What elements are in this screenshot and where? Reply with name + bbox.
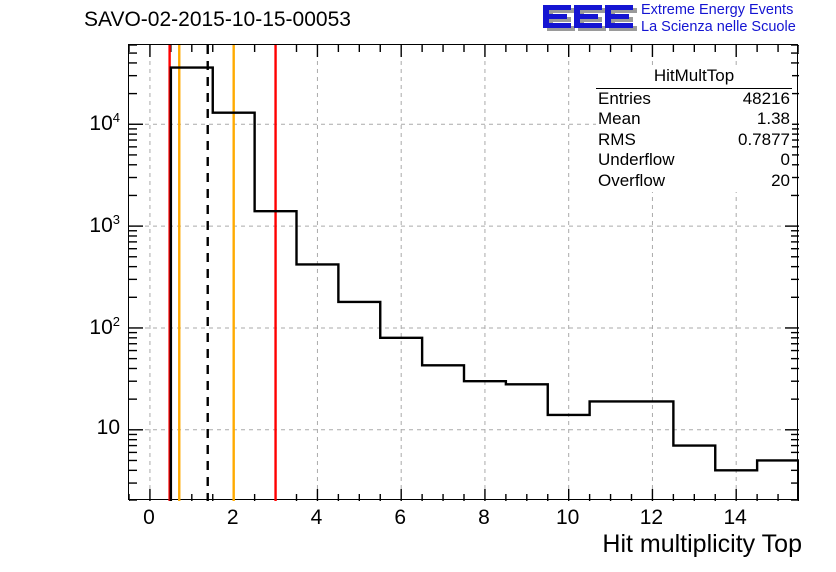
x-tick-label: 2: [203, 506, 263, 530]
stats-row: Entries48216: [596, 89, 792, 110]
stats-key: Underflow: [598, 150, 675, 171]
stats-row: Underflow0: [596, 150, 792, 171]
x-tick-label: 4: [286, 506, 346, 530]
stats-value: 0: [781, 150, 790, 171]
y-tick-label: 104: [42, 110, 120, 136]
x-axis-title: Hit multiplicity Top: [602, 530, 802, 559]
y-tick-label: 103: [42, 212, 120, 238]
stats-key: RMS: [598, 130, 636, 151]
x-tick-label: 0: [119, 506, 179, 530]
stats-key: Entries: [598, 89, 651, 110]
stats-row: Mean1.38: [596, 109, 792, 130]
page-title: SAVO-02-2015-10-15-00053: [84, 8, 351, 32]
y-tick-label: 102: [42, 314, 120, 340]
plot-canvas: SAVO-02-2015-10-15-00053: [0, 0, 836, 572]
stats-value: 20: [771, 171, 790, 192]
x-tick-label: 8: [454, 506, 514, 530]
stats-row: Overflow20: [596, 171, 792, 192]
stats-box-title: HitMultTop: [596, 66, 792, 89]
stats-value: 1.38: [757, 109, 790, 130]
eee-logo-line1: Extreme Energy Events: [641, 2, 796, 19]
eee-logo-text: Extreme Energy Events La Scienza nelle S…: [641, 2, 796, 35]
stats-box: HitMultTop Entries48216Mean1.38RMS0.7877…: [596, 66, 792, 192]
y-tick-label: 10: [42, 416, 120, 440]
x-tick-label: 12: [621, 506, 681, 530]
stats-value: 48216: [743, 89, 790, 110]
eee-logo: Extreme Energy Events La Scienza nelle S…: [541, 3, 833, 37]
x-tick-label: 10: [538, 506, 598, 530]
stats-row: RMS0.7877: [596, 130, 792, 151]
eee-logo-line2: La Scienza nelle Scuole: [641, 19, 796, 36]
eee-logo-mark-icon: [541, 3, 637, 37]
x-tick-label: 6: [370, 506, 430, 530]
stats-value: 0.7877: [738, 130, 790, 151]
stats-box-rows: Entries48216Mean1.38RMS0.7877Underflow0O…: [596, 89, 792, 192]
stats-key: Mean: [598, 109, 641, 130]
stats-key: Overflow: [598, 171, 665, 192]
x-tick-label: 14: [705, 506, 765, 530]
